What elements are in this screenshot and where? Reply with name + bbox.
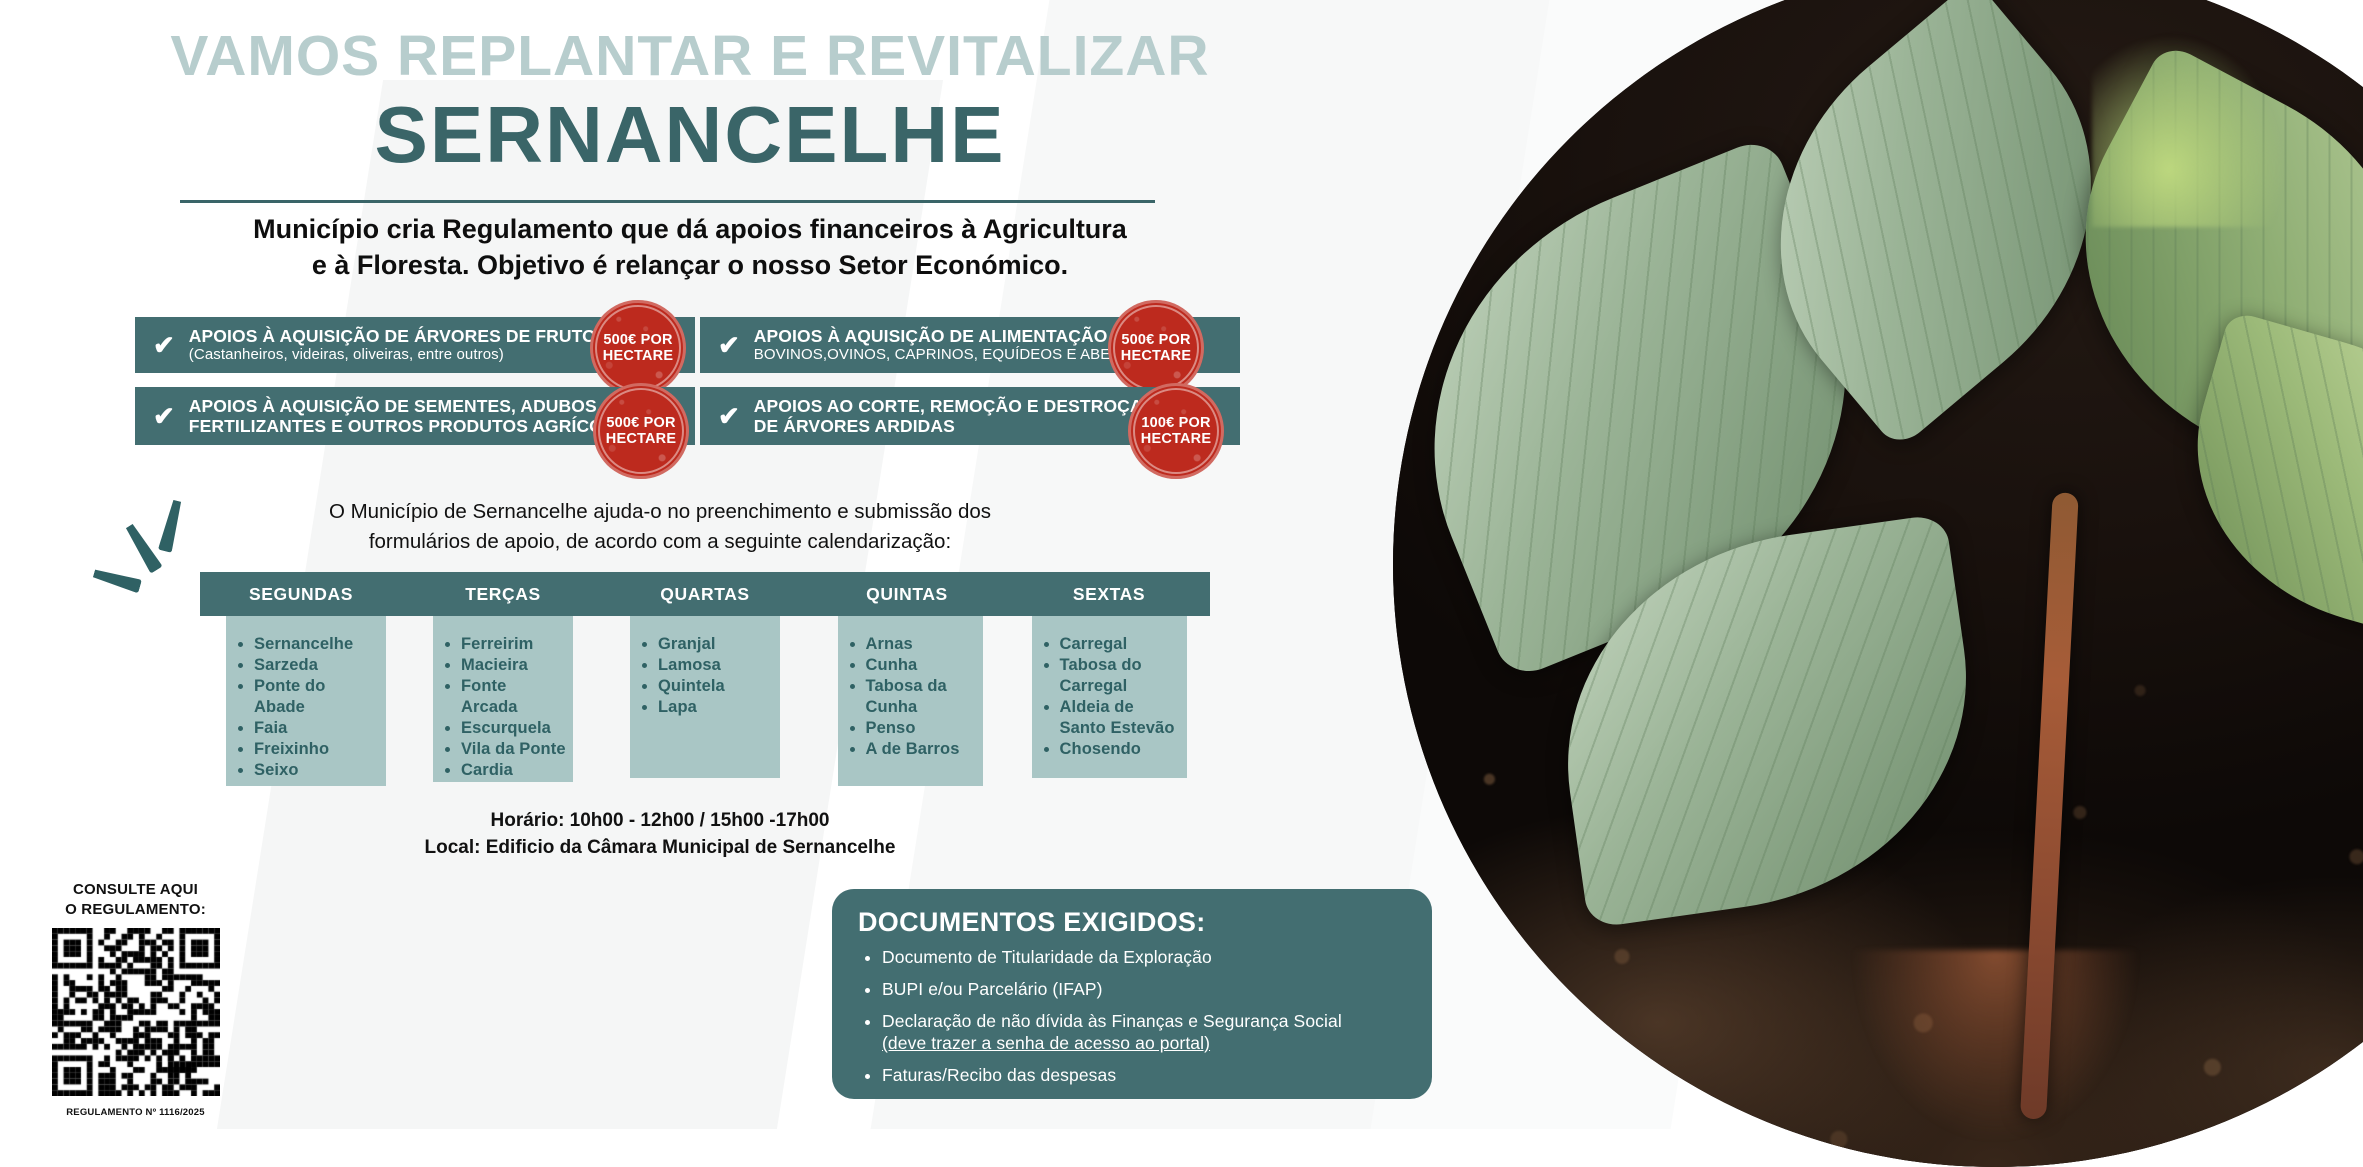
stamp-unit: HECTARE [1141,431,1211,447]
documents-list: Documento de Titularidade da ExploraçãoB… [858,946,1406,1087]
eyebrow-heading: VAMOS REPLANTAR E REVITALIZAR [170,28,1210,85]
stamp-unit: HECTARE [1121,348,1191,364]
list-item: Ponte do Abade [254,676,380,718]
documents-title: DOCUMENTOS EXIGIDOS: [858,907,1406,938]
calendar-cell: FerreirimMacieiraFonte ArcadaEscurquelaV… [433,616,573,782]
list-item: Granjal [658,634,774,655]
list-item: Fonte Arcada [461,676,567,718]
calendar-intro-line-2: formulários de apoio, de acordo com a se… [250,527,1070,557]
subtitle: Município cria Regulamento que dá apoios… [170,212,1210,283]
burst-rays-icon [118,500,198,590]
document-item: Faturas/Recibo das despesas [882,1064,1406,1087]
page-title: SERNANCELHE [170,95,1210,175]
list-item: A de Barros [866,739,977,760]
calendar-column-quartas: GranjalLamosaQuintelaLapa [604,616,806,786]
calendar-day-header-quartas: QUARTAS [604,572,806,616]
list-item: Tabosa da Cunha [866,676,977,718]
place-list: ArnasCunhaTabosa da CunhaPensoA de Barro… [844,634,977,760]
ray-icon [158,499,184,553]
check-icon: ✔ [718,403,740,429]
list-item: Chosendo [1060,739,1181,760]
list-item: Seixo [254,760,380,781]
qr-title-line-2: O REGULAMENTO: [38,900,233,920]
list-item: Penso [866,718,977,739]
list-item: Escurquela [461,718,567,739]
place-list: FerreirimMacieiraFonte ArcadaEscurquelaV… [439,634,567,781]
calendar-day-header-sextas: SEXTAS [1008,572,1210,616]
calendar-cell: SernancelheSarzedaPonte do AbadeFaiaFrei… [226,616,386,786]
benefit-title: APOIOS À AQUISIÇÃO DE ÁRVORES DE FRUTOS [189,326,608,346]
document-item: BUPI e/ou Parcelário (IFAP) [882,978,1406,1001]
document-item: Declaração de não dívida às Finanças e S… [882,1010,1406,1056]
list-item: Freixinho [254,739,380,760]
qr-title-line-1: CONSULTE AQUI [38,880,233,900]
list-item: Carregal [1060,634,1181,655]
document-item-note: (deve trazer a senha de acesso ao portal… [882,1033,1210,1053]
schedule-location: Local: Edificio da Câmara Municipal de S… [250,835,1070,862]
calendar-day-header-tercas: TERÇAS [402,572,604,616]
list-item: Sarzeda [254,655,380,676]
stamp-amount: 500€ POR [603,332,672,348]
stamp-unit: HECTARE [606,431,676,447]
calendar-intro: O Município de Sernancelhe ajuda-o no pr… [250,497,1070,556]
calendar-header-row: SEGUNDAS TERÇAS QUARTAS QUINTAS SEXTAS [200,572,1210,616]
qr-section: CONSULTE AQUI O REGULAMENTO: REGULAMENTO… [38,880,233,1118]
stamp-badge-burnt-tree-removal: 100€ POR HECTARE [1128,383,1224,479]
qr-code-image[interactable] [52,928,220,1096]
list-item: Vila da Ponte [461,739,567,760]
required-documents-panel: DOCUMENTOS EXIGIDOS: Documento de Titula… [832,889,1432,1099]
place-list: SernancelheSarzedaPonte do AbadeFaiaFrei… [232,634,380,781]
calendar-cell: CarregalTabosa do CarregalAldeia de Sant… [1032,616,1187,778]
stamp-badge-fruit-trees: 500€ POR HECTARE [590,300,686,396]
root-system [1851,950,2140,1143]
list-item: Faia [254,718,380,739]
list-item: Lamosa [658,655,774,676]
benefit-title: APOIOS À AQUISIÇÃO DE SEMENTES, ADUBOS, [189,396,638,416]
document-item: Documento de Titularidade da Exploração [882,946,1406,969]
check-icon: ✔ [718,332,740,358]
stamp-amount: 500€ POR [606,415,675,431]
photo-background [1393,0,2363,1167]
calendar-cell: ArnasCunhaTabosa da CunhaPensoA de Barro… [838,616,983,786]
list-item: Aldeia de Santo Estevão [1060,697,1181,739]
calendar-column-sextas: CarregalTabosa do CarregalAldeia de Sant… [1008,616,1210,786]
calendar-column-quintas: ArnasCunhaTabosa da CunhaPensoA de Barro… [806,616,1008,786]
calendar-column-segundas: SernancelheSarzedaPonte do AbadeFaiaFrei… [200,616,402,786]
stamp-badge-animal-feed: 500€ POR HECTARE [1108,300,1204,396]
list-item: Ferreirim [461,634,567,655]
check-icon: ✔ [153,403,175,429]
calendar-column-tercas: FerreirimMacieiraFonte ArcadaEscurquelaV… [402,616,604,786]
stamp-badge-seeds-fertilizers: 500€ POR HECTARE [593,383,689,479]
subtitle-line-2: e à Floresta. Objetivo é relançar o noss… [170,248,1210,284]
stamp-amount: 100€ POR [1141,415,1210,431]
stamp-amount: 500€ POR [1121,332,1190,348]
ray-icon [123,522,162,574]
list-item: Arnas [866,634,977,655]
check-icon: ✔ [153,332,175,358]
list-item: Tabosa do Carregal [1060,655,1181,697]
seedling-photo [1393,0,2363,1167]
stamp-unit: HECTARE [603,348,673,364]
place-list: CarregalTabosa do CarregalAldeia de Sant… [1038,634,1181,760]
title-divider [180,200,1155,203]
benefit-subtitle: FERTILIZANTES E OUTROS PRODUTOS AGRÍCOLA… [189,416,638,436]
list-item: Sernancelhe [254,634,380,655]
ray-icon [92,567,142,594]
subtitle-line-1: Município cria Regulamento que dá apoios… [170,212,1210,248]
list-item: Macieira [461,655,567,676]
sprout-icon [2092,34,2285,227]
calendar-intro-line-1: O Município de Sernancelhe ajuda-o no pr… [250,497,1070,527]
benefit-subtitle: (Castanheiros, videiras, oliveiras, entr… [189,346,608,363]
calendar-day-header-segundas: SEGUNDAS [200,572,402,616]
list-item: Cunha [866,655,977,676]
schedule-hours: Horário: 10h00 - 12h00 / 15h00 -17h00 [250,808,1070,835]
list-item: Cardia [461,760,567,781]
calendar-body: SernancelheSarzedaPonte do AbadeFaiaFrei… [200,616,1210,786]
qr-caption: REGULAMENTO Nº 1116/2025 [38,1107,233,1118]
list-item: Quintela [658,676,774,697]
place-list: GranjalLamosaQuintelaLapa [636,634,774,718]
qr-title: CONSULTE AQUI O REGULAMENTO: [38,880,233,920]
list-item: Lapa [658,697,774,718]
schedule-info: Horário: 10h00 - 12h00 / 15h00 -17h00 Lo… [250,808,1070,862]
calendar-day-header-quintas: QUINTAS [806,572,1008,616]
calendar-cell: GranjalLamosaQuintelaLapa [630,616,780,778]
